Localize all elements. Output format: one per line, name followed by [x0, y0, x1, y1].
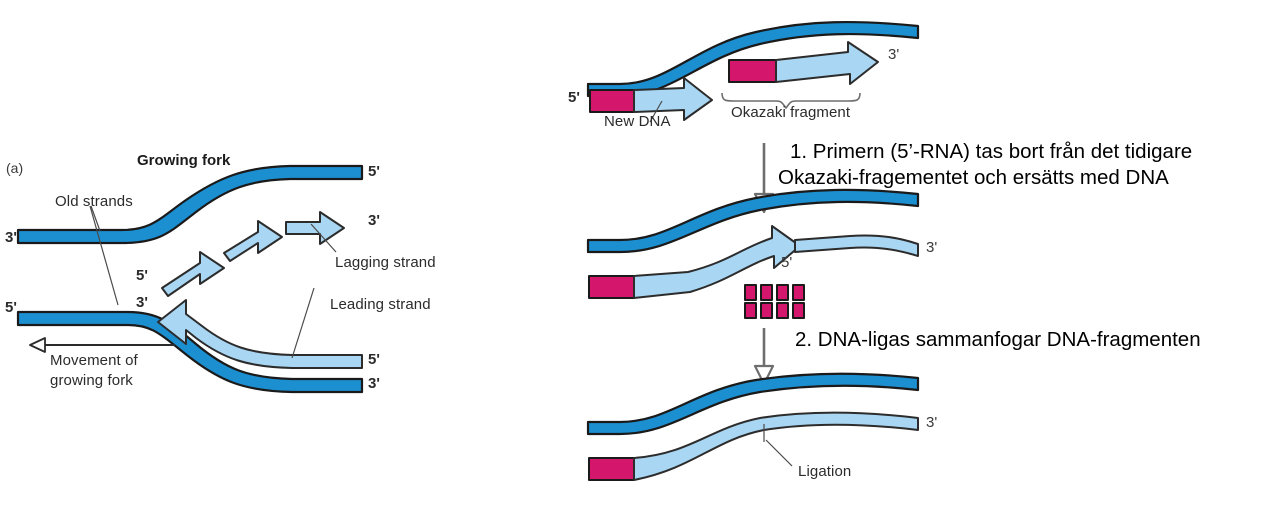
- dna-replication-figure: .tpl { fill: #1C8FD1; stroke: #1a1a1a; s…: [0, 0, 1270, 522]
- tick-parent-bottom-right: 3': [368, 375, 380, 392]
- okazaki-dna: [776, 42, 878, 84]
- movement-arrow-head: [30, 338, 45, 352]
- okazaki-fragment-label: Okazaki fragment: [731, 104, 850, 121]
- excised-nucleotide: [745, 285, 756, 300]
- panel-a-label: (a): [6, 160, 23, 176]
- new-fragment-primer-left: [590, 90, 634, 112]
- tick-lagging-start: 5': [136, 267, 148, 284]
- tick-template-bottom-left: 5': [5, 299, 17, 316]
- excised-nucleotide: [745, 303, 756, 318]
- tick-lagging-arrow-right: 3': [368, 212, 380, 229]
- figure-graphics: .tpl { fill: #1C8FD1; stroke: #1a1a1a; s…: [0, 0, 1270, 522]
- lagging-okazaki-arrow-2: [224, 221, 282, 261]
- tick-template-top-left: 3': [5, 229, 17, 246]
- leader-leading-strand: [292, 288, 314, 358]
- leader-old-strands-lower: [90, 206, 118, 305]
- movement-label-line1: Movement of: [50, 352, 138, 369]
- excised-nucleotide: [761, 285, 772, 300]
- annotation-step-1-line-2: Okazaki-fragementet och ersätts med DNA: [778, 165, 1169, 191]
- excised-nucleotide: [793, 285, 804, 300]
- ligated-dna: [634, 413, 918, 480]
- excised-nucleotide: [777, 303, 788, 318]
- movement-label-line2: growing fork: [50, 372, 133, 389]
- old-strands-label: Old strands: [55, 193, 133, 210]
- excised-nucleotide: [777, 285, 788, 300]
- tick-step-bottom-right-3prime: 3': [926, 414, 937, 431]
- tick-step-middle-right-3prime: 3': [926, 239, 937, 256]
- new-dna-label: New DNA: [604, 113, 671, 130]
- tick-leading-right: 5': [368, 351, 380, 368]
- panel-a-title: Growing fork: [137, 152, 230, 169]
- panel-b-step-middle-graphics: [588, 190, 918, 384]
- tick-leading-start: 3': [136, 294, 148, 311]
- downstream-fragment-middle: [795, 235, 918, 256]
- leader-ligation: [766, 440, 792, 466]
- lagging-okazaki-arrow-1: [162, 252, 224, 296]
- tick-parent-top-right: 5': [368, 163, 380, 180]
- excised-nucleotide: [761, 303, 772, 318]
- excised-nucleotide: [793, 303, 804, 318]
- ligated-primer: [589, 458, 634, 480]
- ligation-label: Ligation: [798, 463, 851, 480]
- tick-step-top-left-5prime: 5': [568, 89, 580, 106]
- leading-strand-label: Leading strand: [330, 296, 431, 313]
- tick-step-top-right-3prime: 3': [888, 46, 899, 63]
- annotation-step-2-line-1: 2. DNA-ligas sammanfogar DNA-fragmenten: [795, 327, 1201, 353]
- tick-gap-5prime: 5': [781, 254, 792, 271]
- annotation-step-1-line-1: 1. Primern (5’-RNA) tas bort från det ti…: [790, 139, 1192, 165]
- okazaki-primer: [729, 60, 776, 82]
- lagging-strand-label: Lagging strand: [335, 254, 436, 271]
- panel-b-step-bottom-graphics: [588, 374, 918, 480]
- extended-primer-middle: [589, 276, 634, 298]
